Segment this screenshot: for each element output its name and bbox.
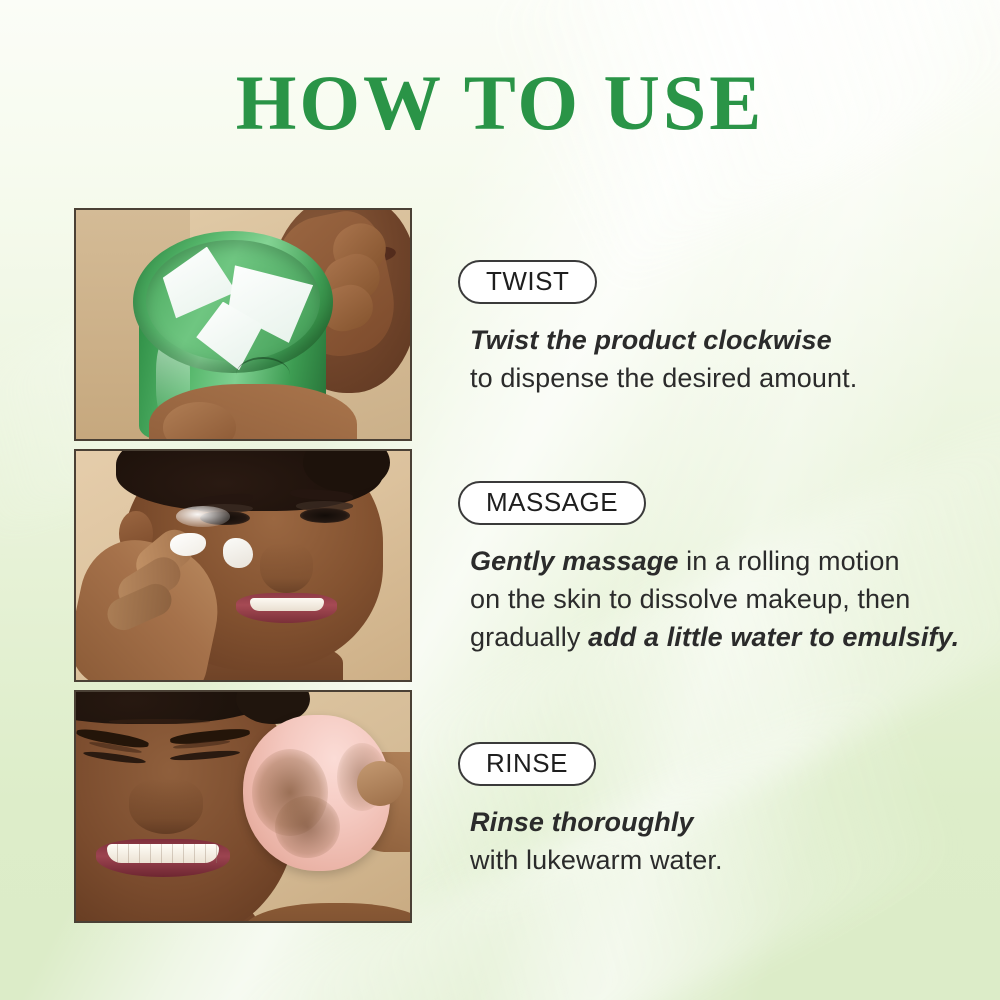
- step-text-massage: MASSAGE Gently massage in a rolling moti…: [458, 481, 978, 656]
- step-badge-rinse: RINSE: [458, 742, 596, 786]
- step-badge-massage: MASSAGE: [458, 481, 646, 525]
- how-to-use-infographic: HOW TO USE: [0, 0, 1000, 1000]
- step-emphasis-rinse: Rinse thoroughly: [470, 807, 694, 837]
- step-badge-twist: TWIST: [458, 260, 597, 304]
- step-photo-rinse: [74, 690, 412, 923]
- step-massage: MASSAGE Gently massage in a rolling moti…: [0, 449, 1000, 690]
- page-title: HOW TO USE: [0, 64, 1000, 142]
- step-photo-massage: [74, 449, 412, 682]
- step-photo-twist: [74, 208, 412, 441]
- step-text-twist: TWIST Twist the product clockwise to dis…: [458, 260, 978, 397]
- step-text-rinse: RINSE Rinse thoroughly with lukewarm wat…: [458, 742, 978, 879]
- step-line3-massage: gradually: [470, 622, 588, 652]
- step-emphasis-twist: Twist the product clockwise: [470, 325, 832, 355]
- step-body-rinse: Rinse thoroughly with lukewarm water.: [470, 803, 978, 879]
- step-body-massage: Gently massage in a rolling motion on th…: [470, 542, 978, 656]
- step-body-twist: Twist the product clockwise to dispense …: [470, 321, 978, 397]
- step-twist: TWIST Twist the product clockwise to dis…: [0, 208, 1000, 449]
- step-emphasis2-massage: add a little water to emulsify.: [588, 622, 959, 652]
- steps-list: TWIST Twist the product clockwise to dis…: [0, 208, 1000, 931]
- step-line2-rinse: with lukewarm water.: [470, 845, 723, 875]
- step-rinse: RINSE Rinse thoroughly with lukewarm wat…: [0, 690, 1000, 931]
- step-line1-rest-massage: in a rolling motion: [679, 546, 900, 576]
- step-emphasis-massage: Gently massage: [470, 546, 679, 576]
- step-line2-twist: to dispense the desired amount.: [470, 363, 857, 393]
- step-line2-massage: on the skin to dissolve makeup, then: [470, 584, 910, 614]
